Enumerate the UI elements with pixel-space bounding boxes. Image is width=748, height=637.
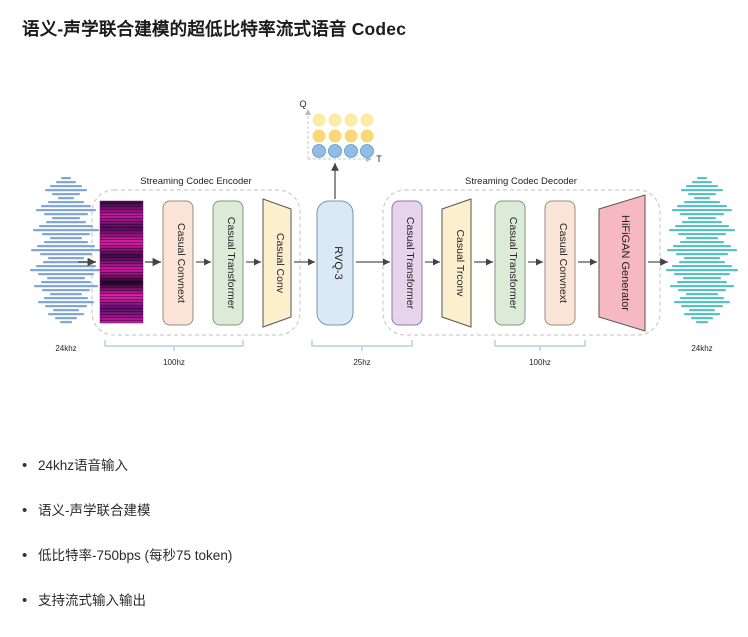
block-hifigan-generator: HiFiGAN Generator	[599, 195, 645, 331]
list-item: 24khz语音输入	[22, 455, 522, 500]
rate-bracket-label: 100hz	[163, 358, 185, 367]
bullet-marker-icon	[22, 545, 38, 567]
bullet-text: 支持流式输入输出	[38, 590, 146, 612]
decoder-group-label: Streaming Codec Decoder	[465, 176, 577, 187]
block-label: Casual Transformer	[507, 217, 519, 310]
input-rate-label: 24khz	[55, 344, 76, 353]
block-rvq-3: RVQ-3	[317, 201, 353, 325]
rate-bracket-rvq: 25hz	[312, 340, 412, 367]
block-label: RVQ-3	[332, 246, 344, 279]
block-label: Casual Convnext	[557, 223, 569, 303]
list-item: 低比特率-750bps (每秒75 token)	[22, 545, 522, 590]
block-label: Casual Conv	[274, 233, 286, 294]
encoder-group-label: Streaming Codec Encoder	[140, 176, 251, 187]
bullet-marker-icon	[22, 500, 38, 522]
rate-bracket-encoder: 100hz	[105, 340, 243, 367]
bullet-marker-icon	[22, 455, 38, 477]
rate-bracket-label: 100hz	[529, 358, 551, 367]
token-grid: Q T	[299, 99, 382, 164]
token-row-bottom	[313, 145, 374, 158]
block-enc-casual-convnext: Casual Convnext	[163, 201, 193, 325]
list-item: 支持流式输入输出	[22, 590, 522, 635]
feature-bullet-list: 24khz语音输入 语义-声学联合建模 低比特率-750bps (每秒75 to…	[22, 455, 522, 635]
page-title: 语义-声学联合建模的超低比特率流式语音 Codec	[22, 16, 406, 41]
block-label: Casual Transformer	[225, 217, 237, 310]
block-enc-casual-transformer: Casual Transformer	[213, 201, 243, 325]
block-dec-casual-transformer-2: Casual Transformer	[495, 201, 525, 325]
token-grid-t-label: T	[376, 154, 382, 164]
block-enc-casual-conv: Casual Conv	[263, 199, 291, 327]
input-waveform-icon: 24khz	[30, 177, 102, 353]
block-label: Casual Transformer	[404, 217, 416, 310]
token-grid-q-label: Q	[299, 99, 306, 109]
rate-bracket-decoder: 100hz	[495, 340, 585, 367]
block-label: Casual Convnext	[175, 223, 187, 303]
mel-spectrogram-icon	[100, 201, 143, 323]
bullet-text: 低比特率-750bps (每秒75 token)	[38, 545, 232, 567]
block-label: HiFiGAN Generator	[619, 215, 631, 311]
token-row-middle	[313, 130, 374, 143]
rate-bracket-label: 25hz	[353, 358, 370, 367]
token-row-top	[313, 114, 374, 127]
bullet-text: 24khz语音输入	[38, 455, 128, 477]
bullet-marker-icon	[22, 590, 38, 612]
architecture-figure: Streaming Codec Encoder Streaming Codec …	[0, 95, 748, 390]
block-label: Casual Trconv	[454, 229, 466, 297]
block-dec-casual-transformer-1: Casual Transformer	[392, 201, 422, 325]
block-dec-casual-convnext: Casual Convnext	[545, 201, 575, 325]
block-dec-casual-trconv: Casual Trconv	[442, 199, 471, 327]
bullet-text: 语义-声学联合建模	[38, 500, 151, 522]
list-item: 语义-声学联合建模	[22, 500, 522, 545]
output-waveform-icon: 24khz	[666, 177, 738, 353]
output-rate-label: 24khz	[691, 344, 712, 353]
